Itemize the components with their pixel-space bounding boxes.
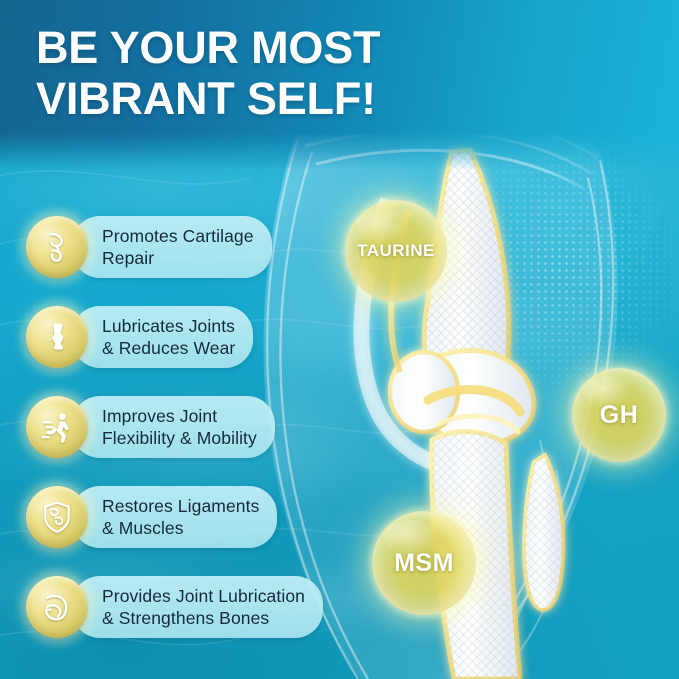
header-band: BE YOUR MOST VIBRANT SELF!	[0, 0, 679, 170]
benefit-label: Provides Joint Lubrication & Strengthens…	[72, 576, 323, 638]
flexed-bicep-icon	[26, 576, 88, 638]
benefit-label: Improves Joint Flexibility & Mobility	[72, 396, 275, 458]
benefit-item-lubricates-joints: Lubricates Joints & Reduces Wear	[26, 306, 366, 368]
benefit-item-cartilage-repair: Promotes Cartilage Repair	[26, 216, 366, 278]
benefit-item-restores-ligaments: Restores Ligaments & Muscles	[26, 486, 366, 548]
benefit-item-flexibility: Improves Joint Flexibility & Mobility	[26, 396, 366, 458]
page-title: BE YOUR MOST VIBRANT SELF!	[36, 22, 380, 124]
benefits-list: Promotes Cartilage Repair Lubricates Joi…	[26, 216, 366, 638]
ingredient-badge-msm: MSM	[372, 511, 476, 615]
benefit-label: Lubricates Joints & Reduces Wear	[72, 306, 253, 368]
knee-joint-icon	[26, 216, 88, 278]
shield-muscle-icon	[26, 486, 88, 548]
benefit-item-joint-lubrication-bones: Provides Joint Lubrication & Strengthens…	[26, 576, 366, 638]
ingredient-label: GH	[600, 401, 639, 430]
benefit-label: Restores Ligaments & Muscles	[72, 486, 277, 548]
ingredient-label: TAURINE	[357, 241, 435, 261]
header-gradient	[0, 0, 679, 170]
product-benefits-poster: BE YOUR MOST VIBRANT SELF! Promotes Cart…	[0, 0, 679, 679]
ingredient-label: MSM	[394, 549, 454, 578]
ingredient-badge-gh: GH	[572, 368, 666, 462]
running-person-icon	[26, 396, 88, 458]
ingredient-badge-taurine: TAURINE	[345, 200, 447, 302]
benefit-label: Promotes Cartilage Repair	[72, 216, 272, 278]
joint-lubrication-icon	[26, 306, 88, 368]
